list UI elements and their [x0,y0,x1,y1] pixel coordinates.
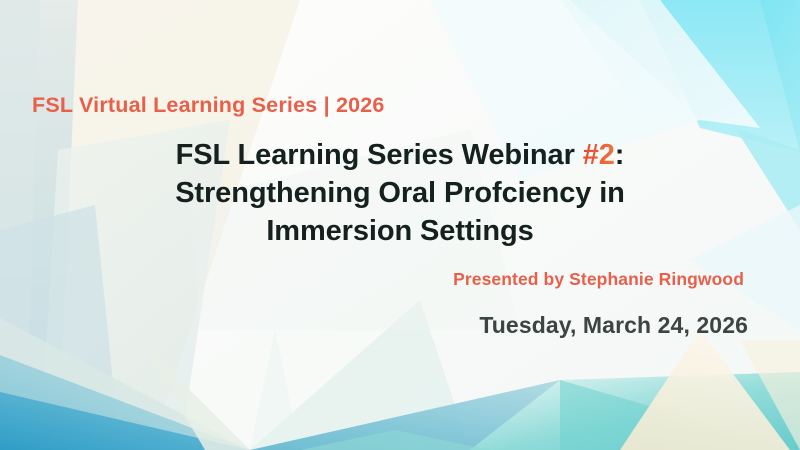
page-title: FSL Learning Series Webinar #2: Strength… [90,136,710,250]
slide-content: FSL Virtual Learning Series | 2026 FSL L… [0,0,800,450]
presenter-credit: Presented by Stephanie Ringwood [453,269,744,290]
title-line-1: FSL Learning Series Webinar #2: [90,136,710,174]
title-line-3: Immersion Settings [90,212,710,250]
event-date: Tuesday, March 24, 2026 [479,312,748,339]
title-accent-number: #2 [583,139,615,171]
title-line-1-suffix: : [615,139,625,171]
series-eyebrow: FSL Virtual Learning Series | 2026 [32,93,385,118]
title-line-1-prefix: FSL Learning Series Webinar [176,139,583,171]
webinar-title-slide: FSL Virtual Learning Series | 2026 FSL L… [0,0,800,450]
title-line-2: Strengthening Oral Profciency in [90,174,710,212]
